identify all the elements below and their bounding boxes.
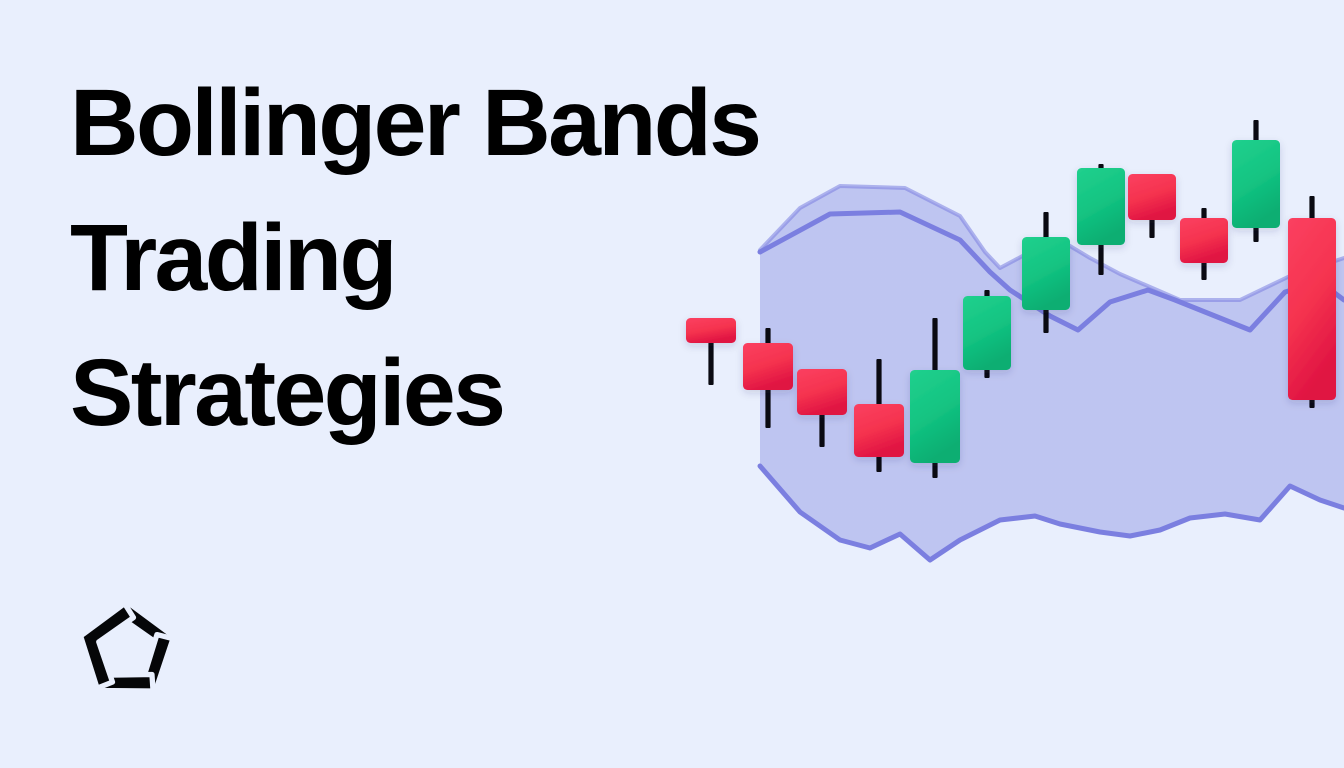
- candle-wick: [1098, 164, 1103, 275]
- candle-body-bearish: [1128, 174, 1176, 220]
- candle-body-bearish: [1180, 218, 1228, 263]
- candle-wick: [1149, 174, 1154, 238]
- poster-canvas: Bollinger Bands Trading Strategies: [0, 0, 1344, 768]
- candle-wick: [1253, 120, 1258, 242]
- candle-body-bullish: [1232, 140, 1280, 228]
- candle-wick: [984, 290, 989, 378]
- bollinger-lower-band: [760, 466, 1344, 560]
- title-line-3: Strategies: [70, 326, 900, 461]
- candle-wick: [932, 318, 937, 478]
- candle-body-bearish: [1288, 218, 1336, 400]
- title-line-2: Trading: [70, 191, 900, 326]
- candle-body-bullish: [1022, 237, 1070, 310]
- candle-wick: [1043, 212, 1048, 333]
- pentagon-weave-logo: [72, 596, 182, 702]
- candle-wick: [1201, 208, 1206, 280]
- title-line-1: Bollinger Bands: [70, 56, 900, 191]
- candle-body-bullish: [963, 296, 1011, 370]
- candle-body-bullish: [1077, 168, 1125, 245]
- logo-petals: [72, 596, 182, 702]
- candle-body-bullish: [910, 370, 960, 463]
- candle-wick: [1309, 196, 1314, 408]
- page-title: Bollinger Bands Trading Strategies: [70, 56, 900, 461]
